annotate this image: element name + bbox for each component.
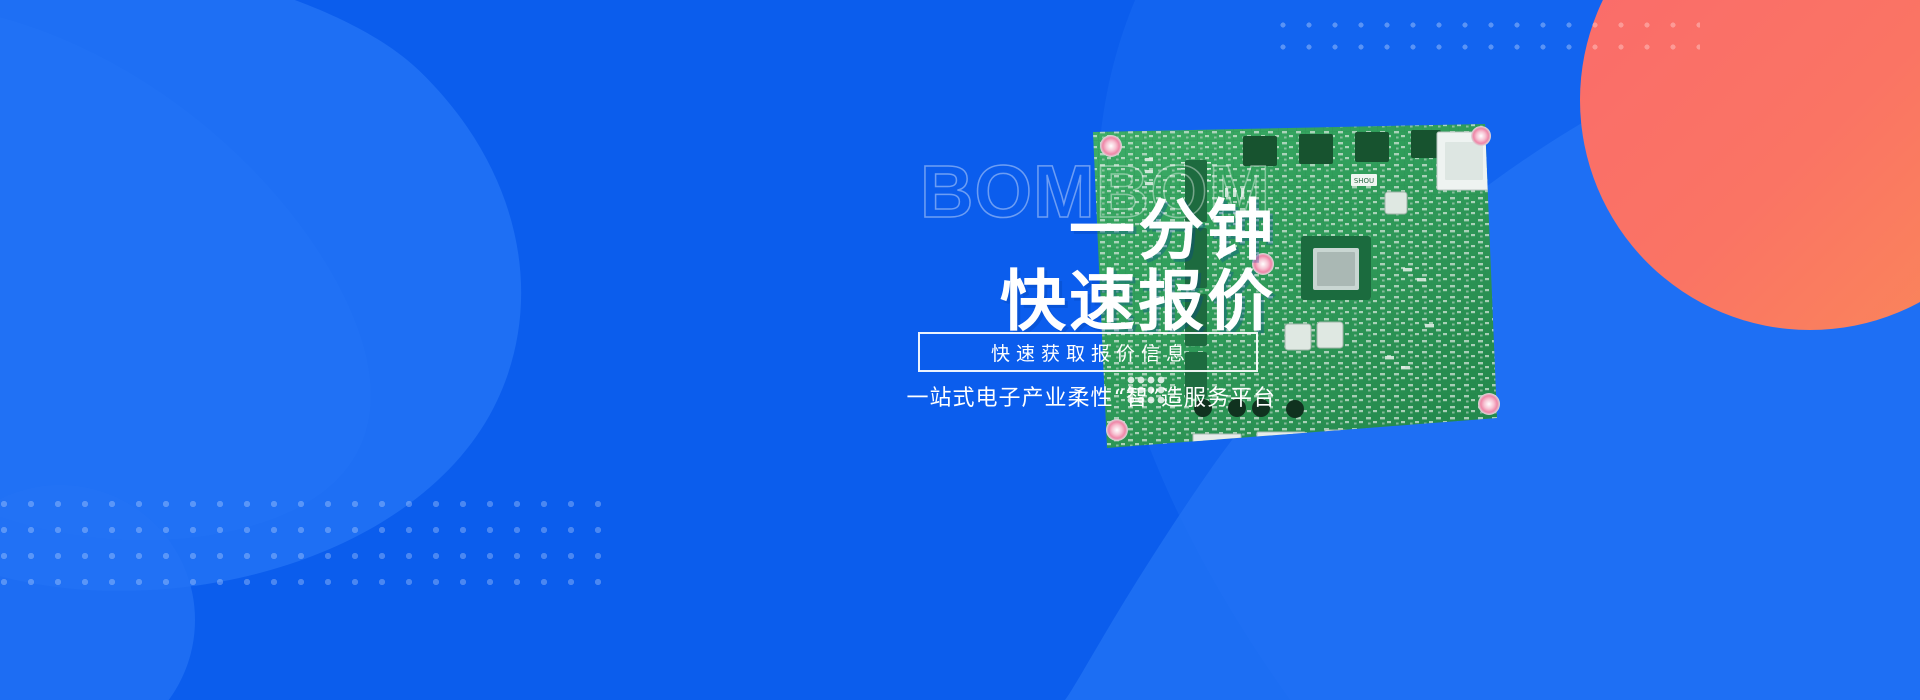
headline-line-1: 一分钟 <box>756 196 1276 267</box>
banner-subtitle: 一站式电子产业柔性“智”造服务平台 <box>606 380 1276 412</box>
page-title: 一分钟 快速报价 <box>756 196 1276 337</box>
quote-info-badge-label: 快速获取报价信息 <box>985 339 1191 366</box>
promo-banner: SHOU <box>0 0 1920 700</box>
quote-info-badge[interactable]: 快速获取报价信息 <box>918 332 1258 372</box>
banner-copy: BOMBOM 一分钟 快速报价 快速获取报价信息 一站式电子产业柔性“智”造服务… <box>0 0 1920 700</box>
headline-line-2: 快速报价 <box>756 267 1276 338</box>
